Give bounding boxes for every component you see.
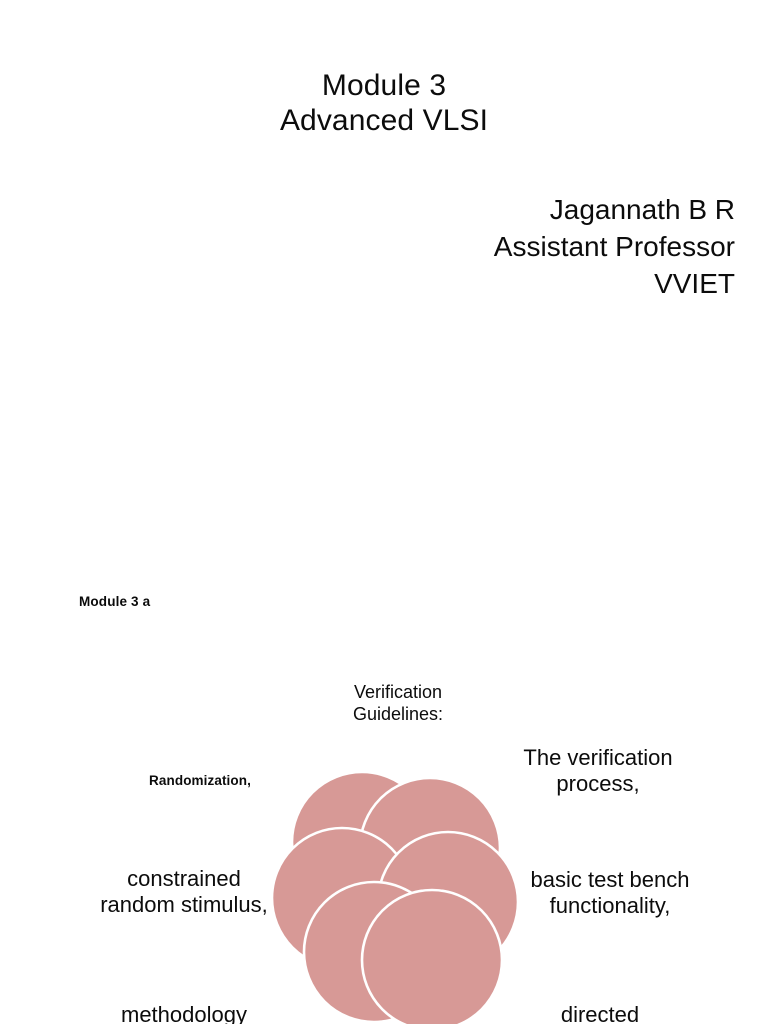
venn-svg [270, 770, 528, 1024]
venn-diagram-group: Verification Guidelines: Randomization, … [0, 660, 768, 1024]
venn-label-top: Verification Guidelines: [318, 682, 478, 725]
section-heading: Module 3 a [79, 594, 150, 609]
title-line-subject: Advanced VLSI [0, 103, 768, 138]
title-line-module: Module 3 [0, 68, 768, 103]
author-name: Jagannath B R [494, 192, 735, 229]
venn-label-bottom-left: methodology [92, 1002, 276, 1024]
venn-label-right: basic test bench functionality, [518, 867, 702, 920]
slide-page: Module 3 Advanced VLSI Jagannath B R Ass… [0, 0, 768, 1024]
venn-label-bottom-right: directed [508, 1002, 692, 1024]
author-designation: Assistant Professor [494, 229, 735, 266]
venn-circle-6 [362, 890, 502, 1024]
author-institution: VVIET [494, 266, 735, 303]
venn-rosette-graphic [270, 770, 528, 1024]
page-title: Module 3 Advanced VLSI [0, 68, 768, 139]
venn-label-upper-right: The verification process, [508, 745, 688, 798]
venn-label-randomization: Randomization, [110, 773, 290, 789]
venn-label-left: constrained random stimulus, [92, 866, 276, 919]
author-block: Jagannath B R Assistant Professor VVIET [494, 192, 735, 303]
